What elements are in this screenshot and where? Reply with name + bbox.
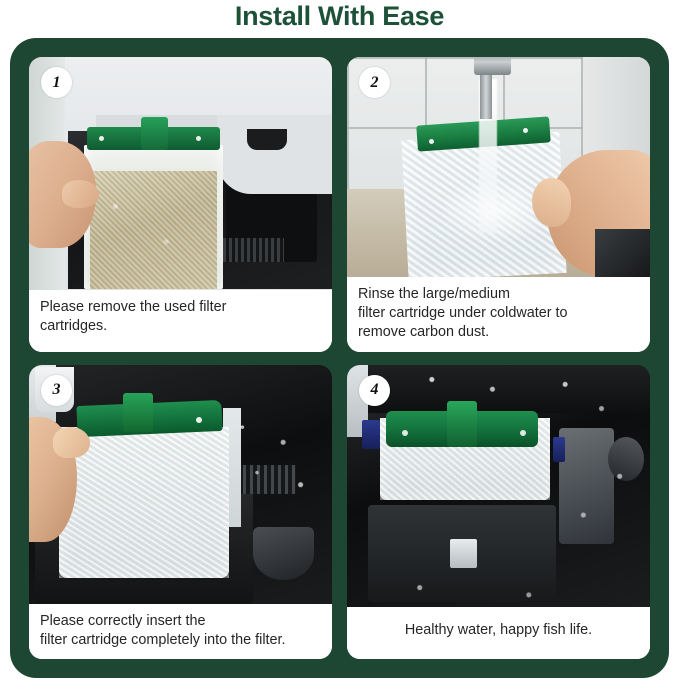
title-bar: Install With Ease <box>0 0 679 38</box>
scene-dark-corner <box>595 229 650 277</box>
cartridge-clip <box>447 401 477 447</box>
caption-line: Please remove the used filter <box>40 298 321 317</box>
page-title: Install With Ease <box>235 1 444 32</box>
fingertip <box>62 180 98 208</box>
step-caption-2: Rinse the large/medium filter cartridge … <box>347 277 650 351</box>
cartridge-screw-right <box>520 430 526 436</box>
step-badge-4: 4 <box>359 375 390 406</box>
caption-line: Please correctly insert the <box>40 612 321 631</box>
cartridge-screw-left <box>99 136 104 141</box>
step-badge-2: 2 <box>359 67 390 98</box>
step-caption-1: Please remove the used filter cartridges… <box>29 290 332 352</box>
cartridge-blue-tab-left <box>362 420 380 449</box>
step-badge-3: 3 <box>41 375 72 406</box>
thumb <box>532 178 571 226</box>
photo-scene-rinse-cartridge <box>347 57 650 277</box>
caption-line: Rinse the large/medium <box>358 285 639 304</box>
step-photo-2: 2 <box>347 57 650 277</box>
cartridge-screw-right <box>196 136 201 141</box>
cartridge-blue-tab-right <box>553 437 565 461</box>
step-card-4: 4 Healthy water, happy fish life. <box>347 365 650 660</box>
filter-lid-notch <box>247 129 286 150</box>
step-card-3: 3 Please correctly insert the filter car… <box>29 365 332 660</box>
steps-board: 1 Please remove the used filter cartridg… <box>10 38 669 678</box>
water-droplets <box>223 412 320 513</box>
filter-nozzle <box>253 527 314 580</box>
step-badge-1: 1 <box>41 67 72 98</box>
cartridge-clip <box>123 393 153 431</box>
step-card-2: 2 Rinse the large/medium filter cartridg… <box>347 57 650 352</box>
step-photo-4: 4 <box>347 365 650 608</box>
caption-line: filter cartridge under coldwater to <box>358 304 639 323</box>
fingertip <box>53 427 89 458</box>
filter-chamber <box>559 428 614 544</box>
caption-line: filter cartridge completely into the fil… <box>40 631 321 650</box>
filter-top-rail <box>347 365 650 414</box>
caption-line: cartridges. <box>40 317 321 336</box>
filter-intake <box>450 539 477 568</box>
step-photo-1: 1 <box>29 57 332 290</box>
install-with-ease-infographic: Install With Ease <box>0 0 679 688</box>
cartridge-screw-left <box>429 139 434 144</box>
step-card-1: 1 Please remove the used filter cartridg… <box>29 57 332 352</box>
caption-line: Healthy water, happy fish life. <box>358 621 639 640</box>
step-caption-3: Please correctly insert the filter cartr… <box>29 604 332 659</box>
step-photo-3: 3 <box>29 365 332 604</box>
caption-line: remove carbon dust. <box>358 323 639 342</box>
cartridge-clip <box>141 117 168 150</box>
faucet-head <box>474 57 510 75</box>
photo-scene-remove-used-cartridge <box>29 57 332 290</box>
faucet-spout <box>480 70 492 118</box>
cartridge-screw-right <box>523 128 528 133</box>
cartridge-used-carbon <box>90 171 217 290</box>
step-caption-4: Healthy water, happy fish life. <box>347 607 650 659</box>
cartridge-screw-left <box>402 430 408 436</box>
photo-scene-insert-cartridge <box>29 365 332 604</box>
photo-scene-installed-cartridge <box>347 365 650 608</box>
cartridge-screw-right <box>196 417 202 423</box>
filter-lid-panel <box>217 115 332 194</box>
filter-pipe <box>608 437 644 481</box>
